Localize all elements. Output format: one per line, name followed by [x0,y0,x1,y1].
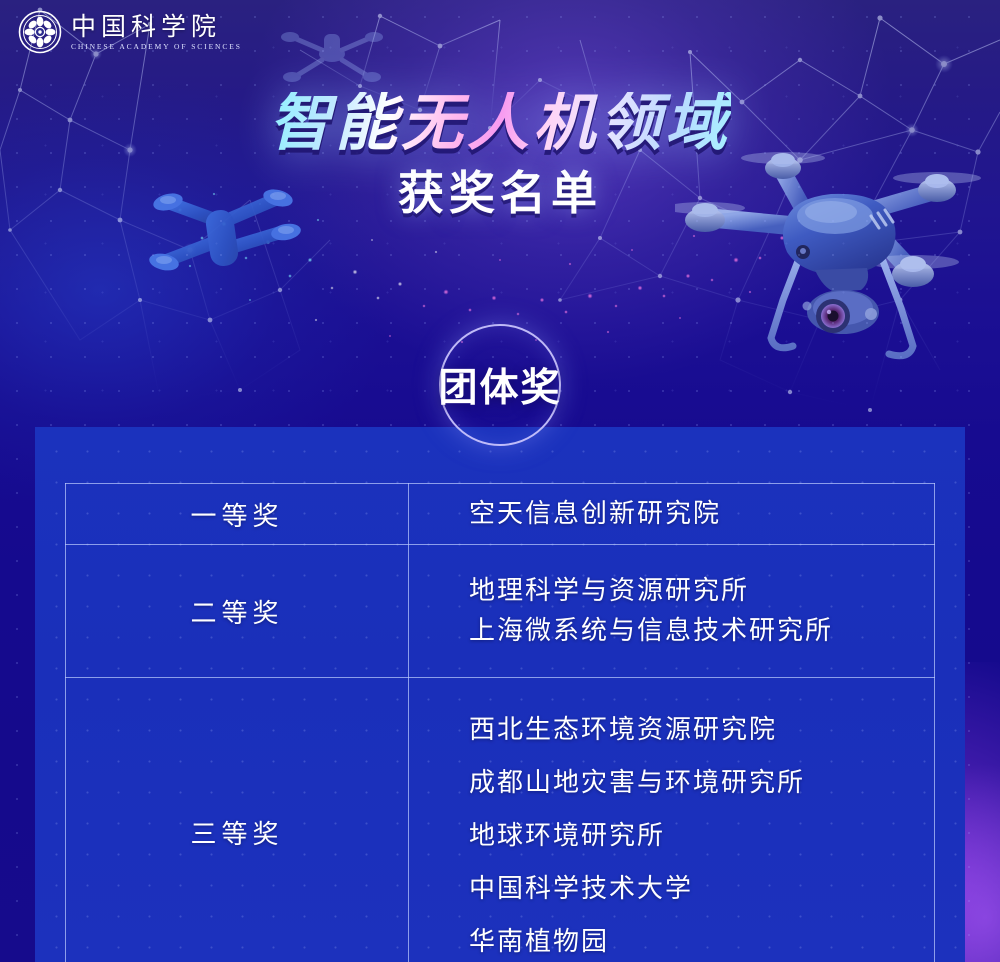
award-rank-cell: 二等奖 [66,545,409,678]
award-names-cell: 空天信息创新研究院 [409,484,935,545]
list-item: 空天信息创新研究院 [469,501,934,527]
award-names-cell: 地理科学与资源研究所 上海微系统与信息技术研究所 [409,545,935,678]
award-names-cell: 西北生态环境资源研究院 成都山地灾害与环境研究所 地球环境研究所 中国科学技术大… [409,678,935,962]
award-panel: 一等奖 空天信息创新研究院 二等奖 地理科学与资源研究所 上海微系统与信息技术研… [35,427,965,962]
table-row: 三等奖 西北生态环境资源研究院 成都山地灾害与环境研究所 地球环境研究所 中国科… [66,678,935,962]
cas-name-en: CHINESE ACADEMY OF SCIENCES [71,43,242,51]
page-subtitle: 获奖名单 [0,170,1000,216]
hero-heading-block: 智能无人机领域 获奖名单 [0,92,1000,216]
table-row: 一等奖 空天信息创新研究院 [66,484,935,545]
award-table: 一等奖 空天信息创新研究院 二等奖 地理科学与资源研究所 上海微系统与信息技术研… [65,483,935,962]
section-badge-label: 团体奖 [439,357,562,413]
list-item: 上海微系统与信息技术研究所 [469,618,934,644]
list-item: 成都山地灾害与环境研究所 [469,770,934,796]
cas-emblem-icon [18,10,62,54]
cas-logo: 中国科学院 CHINESE ACADEMY OF SCIENCES [18,10,242,54]
award-poster: 中国科学院 CHINESE ACADEMY OF SCIENCES 智能无人机领… [0,0,1000,962]
list-item: 西北生态环境资源研究院 [469,717,934,743]
table-row: 二等奖 地理科学与资源研究所 上海微系统与信息技术研究所 [66,545,935,678]
page-title: 智能无人机领域 [269,92,731,154]
section-badge: 团体奖 [439,324,561,446]
list-item: 地球环境研究所 [469,823,934,849]
list-item: 中国科学技术大学 [469,876,934,902]
award-rank-cell: 一等奖 [66,484,409,545]
award-rank-cell: 三等奖 [66,678,409,962]
small-drone-icon [272,18,392,90]
cas-name-cn: 中国科学院 [71,14,242,39]
list-item: 华南植物园 [469,929,934,955]
list-item: 地理科学与资源研究所 [469,578,934,604]
